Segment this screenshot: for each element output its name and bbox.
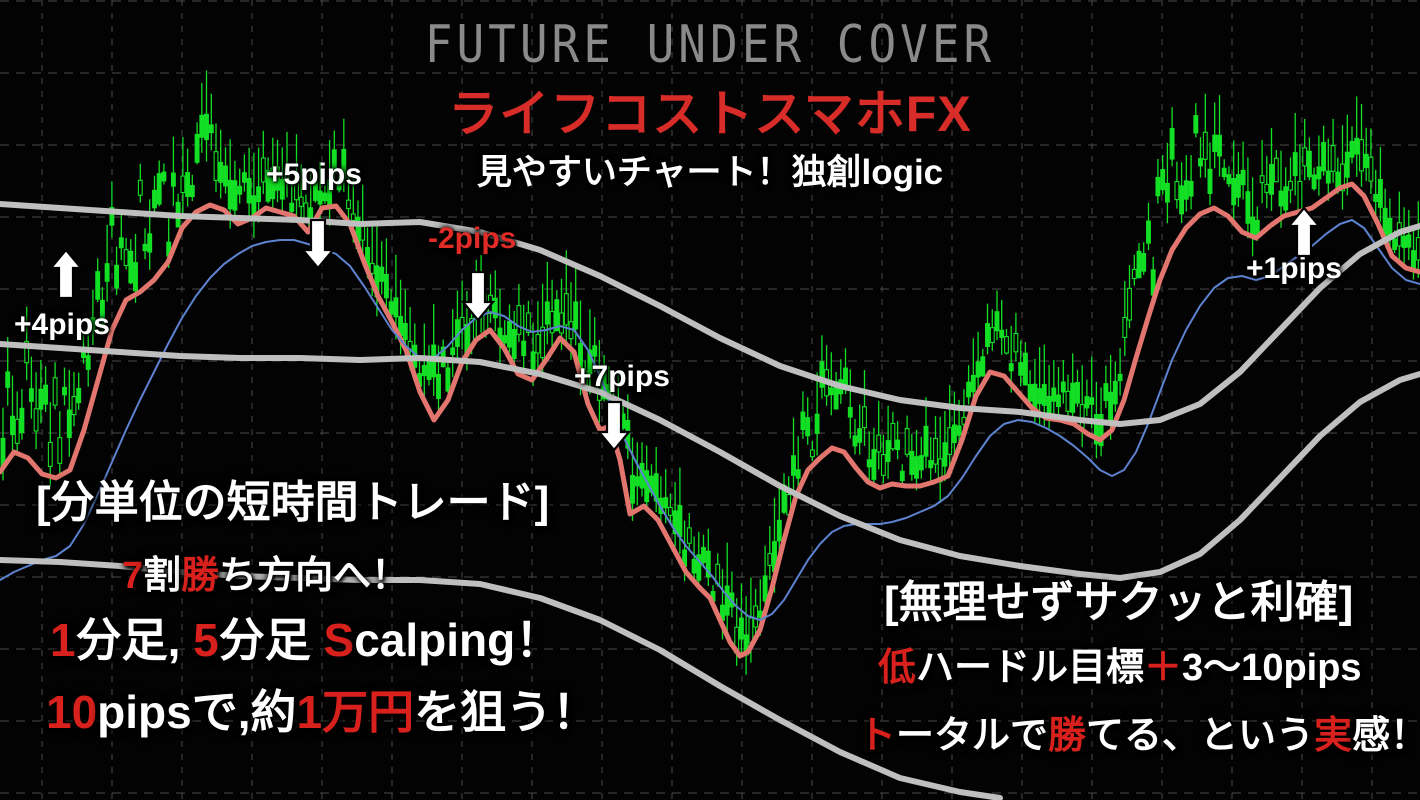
candle-body <box>1014 334 1018 352</box>
candle-body <box>848 408 852 417</box>
left-line-0-seg-2: 勝 <box>181 555 219 597</box>
candle-body <box>967 382 971 397</box>
right-line-1-seg-5: 感！ <box>1352 715 1420 757</box>
candle-body <box>664 498 668 508</box>
candle-body <box>389 302 393 314</box>
candle-body <box>394 298 398 317</box>
candle-body <box>777 520 781 541</box>
candle-body <box>943 443 947 466</box>
candle-body <box>252 196 256 215</box>
candle-body <box>427 361 431 379</box>
candle-body <box>34 409 38 431</box>
candle-body <box>725 586 729 615</box>
pip-label-plus7: +7pips <box>574 360 670 394</box>
candle-body <box>1128 288 1132 320</box>
candle-body <box>976 362 980 377</box>
right-block-heading: [無理せずサクッと利確] <box>884 566 1353 630</box>
arrow-down-icon <box>596 400 632 457</box>
left-line-2-seg-2: 1万円 <box>297 686 415 738</box>
candle-body <box>971 376 975 392</box>
arrow-up-icon <box>48 248 84 305</box>
pip-label-plus5: +5pips <box>266 158 362 192</box>
candle-body <box>1104 384 1108 401</box>
candle-body <box>995 312 999 331</box>
left-line-0-seg-1: 割 <box>143 555 181 597</box>
candle-body <box>119 238 123 248</box>
left-line-2-seg-0: 10 <box>46 686 97 738</box>
candle-body <box>361 226 365 240</box>
right-block-line-2: トータルで勝てる、という実感！ <box>858 704 1420 759</box>
candle-body <box>437 375 441 399</box>
candle-body <box>990 328 994 343</box>
candle-body <box>1038 389 1042 404</box>
candle-body <box>1402 236 1406 247</box>
arrow-down-icon <box>460 270 496 327</box>
candle-body <box>72 397 76 415</box>
candle-body <box>1416 238 1420 260</box>
candle-body <box>934 438 938 464</box>
candle-body <box>877 435 881 452</box>
candle-body <box>1005 337 1009 353</box>
left-block-heading: [分単位の短時間トレード] <box>36 466 549 530</box>
candle-body <box>1071 383 1075 412</box>
candle-body <box>687 528 691 543</box>
candle-body <box>858 429 862 442</box>
candle-body <box>645 471 649 502</box>
right-line-1-seg-2: 勝 <box>1048 715 1086 757</box>
candle-body <box>6 372 10 387</box>
candle-body <box>148 234 152 252</box>
candle-body <box>763 576 767 601</box>
candle-body <box>1407 235 1411 247</box>
candle-body <box>1052 388 1056 401</box>
right-line-0-seg-0: 低 <box>878 647 916 689</box>
right-block-line-1: 低ハードル目標＋3〜10pips <box>878 636 1362 691</box>
candle-body <box>1123 318 1127 338</box>
candle-body <box>910 452 914 475</box>
candle-body <box>517 306 521 335</box>
candle-body <box>77 389 81 403</box>
right-line-1-seg-1: ータルで <box>896 715 1048 757</box>
candle-body <box>669 508 673 516</box>
left-line-1-seg-0: 1 <box>50 614 76 666</box>
candle-body <box>853 436 857 446</box>
candle-body <box>20 408 24 432</box>
candle-body <box>115 265 119 287</box>
candle-body <box>512 330 516 359</box>
left-line-1-seg-5: calping！ <box>354 614 561 666</box>
candle-body <box>919 456 923 470</box>
candle-body <box>536 335 540 354</box>
candle-body <box>1024 353 1028 385</box>
candle-body <box>299 197 303 206</box>
left-line-1-seg-2: 5 <box>193 614 219 666</box>
candle-body <box>768 554 772 566</box>
left-line-1-seg-1: 分足, <box>76 614 194 666</box>
candle-body <box>796 470 800 478</box>
candle-body <box>815 414 819 433</box>
left-block-line-3: 10pipsで,約1万円を狙う！ <box>46 676 598 742</box>
candle-body <box>124 250 128 266</box>
candle-body <box>531 352 535 372</box>
left-block-line-1: 7割勝ち方向へ！ <box>122 544 409 599</box>
candle-body <box>1142 254 1146 272</box>
candle-body <box>385 275 389 298</box>
candle-body <box>1061 382 1065 392</box>
left-line-0-seg-0: 7 <box>122 555 143 597</box>
left-line-1-seg-4: S <box>324 614 355 666</box>
candle-body <box>48 442 52 466</box>
candle-body <box>1000 330 1004 337</box>
candle-body <box>67 410 71 437</box>
candle-body <box>1019 363 1023 376</box>
left-line-0-seg-3: ち方向へ！ <box>219 555 409 597</box>
candle-body <box>702 548 706 563</box>
candle-body <box>86 356 90 370</box>
candle-body <box>1085 397 1089 408</box>
candle-body <box>811 450 815 457</box>
candle-body <box>863 407 867 428</box>
candle-body <box>1076 383 1080 404</box>
candle-body <box>806 418 810 436</box>
candle-body <box>792 456 796 476</box>
candle-body <box>560 313 564 333</box>
product-title: ライフコストスマホFX <box>0 74 1420 146</box>
candle-body <box>593 346 597 356</box>
arrow-down-icon <box>300 218 336 275</box>
brand-title: FUTURE UNDER COVER <box>0 14 1420 74</box>
candle-body <box>801 412 805 429</box>
candle-body <box>692 560 696 574</box>
candle-body <box>1118 375 1122 381</box>
candle-body <box>1393 239 1397 249</box>
candle-body <box>1251 217 1255 235</box>
candle-body <box>986 324 990 347</box>
candle-body <box>370 264 374 274</box>
candle-body <box>522 341 526 355</box>
candle-body <box>953 425 957 443</box>
candle-body <box>1009 364 1013 371</box>
candle-body <box>129 251 133 282</box>
candle-body <box>134 263 138 291</box>
candle-body <box>882 455 886 476</box>
candle-body <box>678 506 682 537</box>
arrow-up-icon <box>1286 206 1322 263</box>
candle-body <box>872 450 876 480</box>
left-block-line-2: 1分足, 5分足 Scalping！ <box>50 604 561 670</box>
candle-body <box>39 389 43 409</box>
candle-body <box>631 476 635 504</box>
right-line-1-seg-4: 実 <box>1314 715 1352 757</box>
candle-body <box>905 429 909 455</box>
right-line-1-seg-0: ト <box>858 715 896 757</box>
candle-body <box>1147 221 1151 243</box>
candle-body <box>508 322 512 348</box>
candle-body <box>541 327 545 357</box>
candle-body <box>829 388 833 395</box>
candle-body <box>564 294 568 325</box>
candle-body <box>574 302 578 329</box>
candle-body <box>957 426 961 435</box>
candle-body <box>948 428 952 455</box>
candle-body <box>886 441 890 462</box>
candle-body <box>44 385 48 404</box>
chart-promo-image: FUTURE UNDER COVER ライフコストスマホFX 見やすいチャート！… <box>0 0 1420 800</box>
candle-body <box>58 438 62 464</box>
candle-body <box>451 348 455 355</box>
candle-body <box>635 477 639 486</box>
candle-body <box>380 267 384 281</box>
candle-body <box>446 368 450 391</box>
left-line-2-seg-1: pipsで,約 <box>97 686 296 738</box>
right-line-0-seg-2: ＋ <box>1144 647 1182 689</box>
candle-body <box>896 440 900 449</box>
candle-body <box>924 426 928 456</box>
candle-body <box>1090 398 1094 405</box>
candle-body <box>545 302 549 324</box>
candle-body <box>11 416 15 434</box>
pip-label-minus2: -2pips <box>428 222 516 256</box>
pip-label-plus4: +4pips <box>14 308 110 342</box>
candle-body <box>1109 392 1113 422</box>
candle-body <box>143 244 147 250</box>
left-line-1-seg-3: 分足 <box>219 614 324 666</box>
candle-body <box>1080 405 1084 428</box>
candle-body <box>96 272 100 299</box>
candle-body <box>351 214 355 221</box>
candle-body <box>915 457 919 478</box>
candle-body <box>844 368 848 385</box>
candle-body <box>929 461 933 468</box>
candle-body <box>1028 385 1032 401</box>
candle-body <box>347 200 351 208</box>
candle-body <box>1113 381 1117 403</box>
tagline: 見やすいチャート！独創logic <box>0 144 1420 195</box>
candle-body <box>30 389 34 402</box>
candle-body <box>900 471 904 480</box>
candle-body <box>1057 395 1061 406</box>
candle-body <box>290 203 294 211</box>
candle-body <box>981 357 985 376</box>
candle-body <box>1066 391 1070 411</box>
candle-body <box>1246 192 1250 223</box>
candle-body <box>1374 195 1378 202</box>
candle-body <box>740 618 744 639</box>
candle-body <box>1132 269 1136 278</box>
candle-body <box>53 378 57 405</box>
candle-body <box>1137 251 1141 277</box>
candle-body <box>1047 397 1051 415</box>
right-line-0-seg-3: 3〜10pips <box>1182 647 1362 689</box>
candle-body <box>891 424 895 449</box>
candle-body <box>503 336 507 343</box>
candle-body <box>403 324 407 340</box>
candle-body <box>422 366 426 376</box>
candle-body <box>63 388 67 395</box>
right-line-1-seg-3: てる、という <box>1086 715 1314 757</box>
candle-body <box>1042 385 1046 406</box>
candle-body <box>867 460 871 467</box>
candle-body <box>754 606 758 627</box>
right-line-0-seg-1: ハードル目標 <box>916 647 1144 689</box>
candle-body <box>105 264 109 282</box>
left-line-2-seg-3: を狙う！ <box>414 686 598 738</box>
candle-body <box>15 419 19 443</box>
